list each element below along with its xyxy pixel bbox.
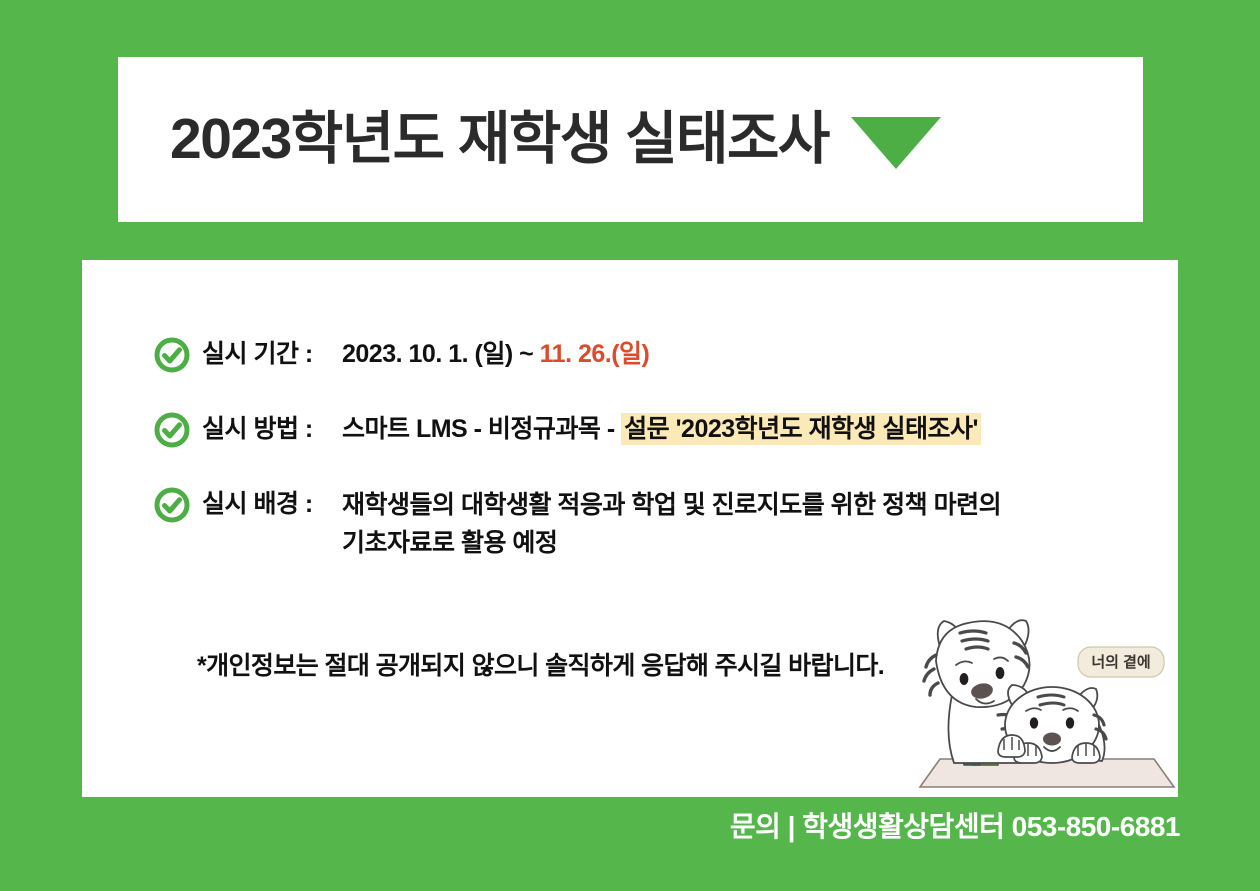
check-circle-icon xyxy=(154,412,190,448)
period-start-text: 2023. 10. 1. (일) ~ xyxy=(342,340,540,368)
info-row-value: 2023. 10. 1. (일) ~ 11. 26.(일) xyxy=(342,336,649,372)
background-line-2: 기초자료로 활용 예정 xyxy=(342,529,557,557)
tiger-mascot: 너의 곁에 xyxy=(906,599,1178,797)
period-end-text: 11. 26.(일) xyxy=(540,340,650,368)
triangle-down-icon xyxy=(851,117,941,169)
mascot-speech-text: 너의 곁에 xyxy=(1091,653,1150,671)
info-row-value: 재학생들의 대학생활 적응과 학업 및 진로지도를 위한 정책 마련의기초자료로… xyxy=(342,486,1001,562)
footer-contact: 문의 | 학생생활상담센터 053-850-6881 xyxy=(0,805,1180,845)
info-row-label: 실시 배경 : xyxy=(202,486,342,522)
info-row-list: 실시 기간 : 2023. 10. 1. (일) ~ 11. 26.(일) 실시… xyxy=(154,336,1154,600)
info-row-background: 실시 배경 : 재학생들의 대학생활 적응과 학업 및 진로지도를 위한 정책 … xyxy=(154,486,1154,562)
check-circle-icon xyxy=(154,487,190,523)
main-content-panel: 실시 기간 : 2023. 10. 1. (일) ~ 11. 26.(일) 실시… xyxy=(82,260,1178,797)
info-row-period: 실시 기간 : 2023. 10. 1. (일) ~ 11. 26.(일) xyxy=(154,336,1154,373)
privacy-note: *개인정보는 절대 공개되지 않으니 솔직하게 응답해 주시길 바랍니다. xyxy=(197,646,884,682)
info-row-value: 스마트 LMS - 비정규과목 - 설문 '2023학년도 재학생 실태조사' xyxy=(342,411,981,447)
page-title: 2023학년도 재학생 실태조사 xyxy=(170,111,829,168)
method-path-text: 스마트 LMS - 비정규과목 - xyxy=(342,415,621,443)
info-row-method: 실시 방법 : 스마트 LMS - 비정규과목 - 설문 '2023학년도 재학… xyxy=(154,411,1154,448)
method-survey-name-highlight: 설문 '2023학년도 재학생 실태조사' xyxy=(621,413,981,445)
info-row-label: 실시 방법 : xyxy=(202,411,342,447)
background-line-1: 재학생들의 대학생활 적응과 학업 및 진로지도를 위한 정책 마련의 xyxy=(342,491,1001,519)
title-panel: 2023학년도 재학생 실태조사 xyxy=(118,57,1143,222)
check-circle-icon xyxy=(154,337,190,373)
title-row: 2023학년도 재학생 실태조사 xyxy=(170,57,941,222)
info-row-label: 실시 기간 : xyxy=(202,336,342,372)
